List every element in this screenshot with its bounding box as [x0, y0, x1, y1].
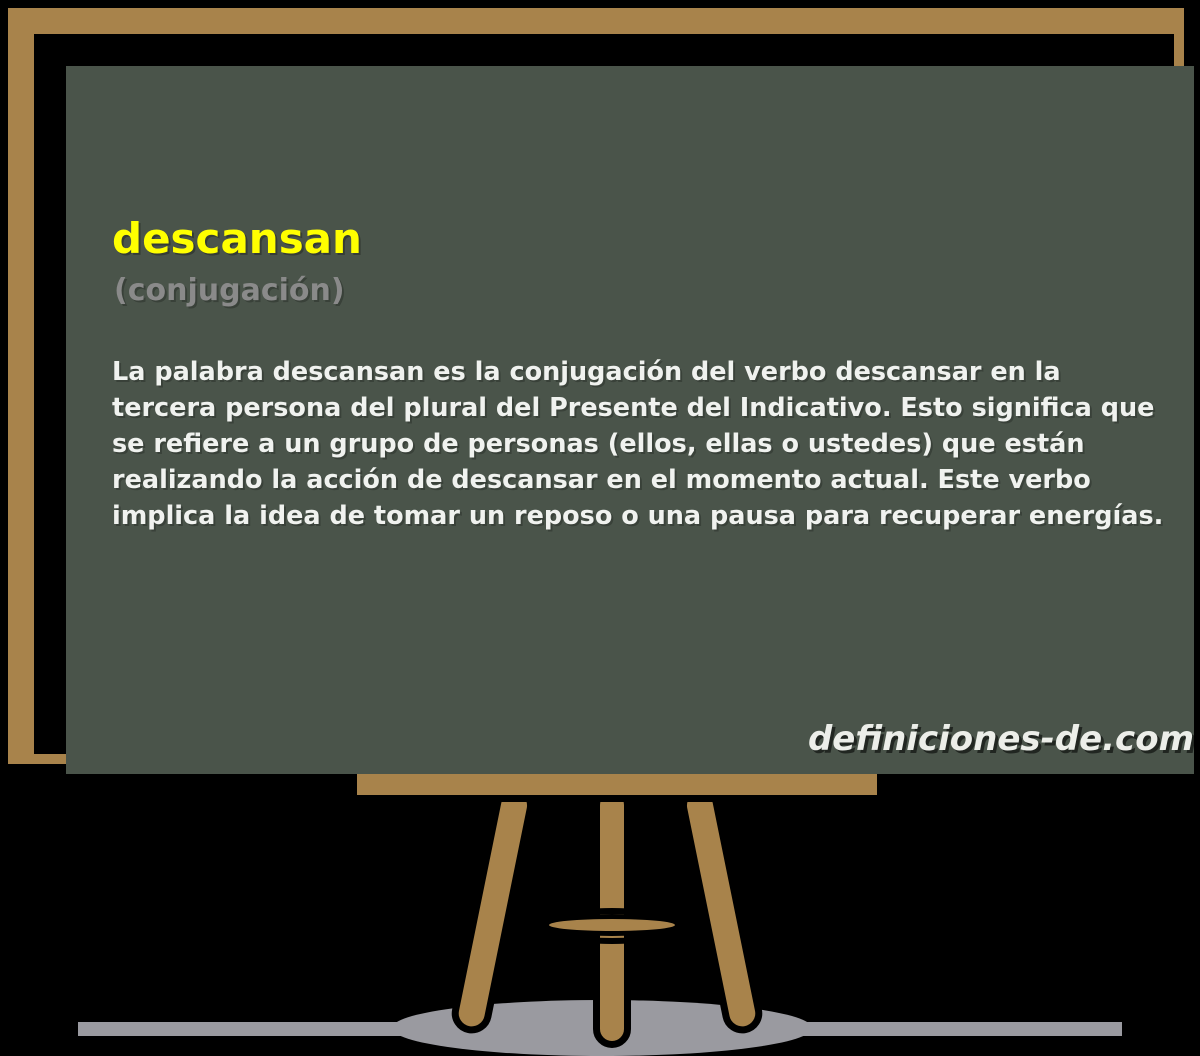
easel-brace-ring-inner — [544, 914, 680, 936]
chalkboard-surface: descansan (conjugación) La palabra desca… — [66, 66, 1194, 774]
chalkboard-scene: descansan (conjugación) La palabra desca… — [0, 0, 1200, 1056]
chalkboard-frame-wood: descansan (conjugación) La palabra desca… — [8, 8, 1184, 764]
chalkboard-frame-outer: descansan (conjugación) La palabra desca… — [0, 0, 1192, 772]
definition-text: La palabra descansan es la conjugación d… — [112, 354, 1164, 534]
page-title: descansan — [112, 218, 362, 260]
easel-leg-left — [448, 782, 537, 1037]
page-subtitle: (conjugación) — [114, 276, 345, 306]
chalkboard-frame-inner-line: descansan (conjugación) La palabra desca… — [34, 34, 1174, 754]
easel-leg-right — [676, 782, 765, 1037]
site-watermark: definiciones-de.com — [808, 722, 1194, 756]
